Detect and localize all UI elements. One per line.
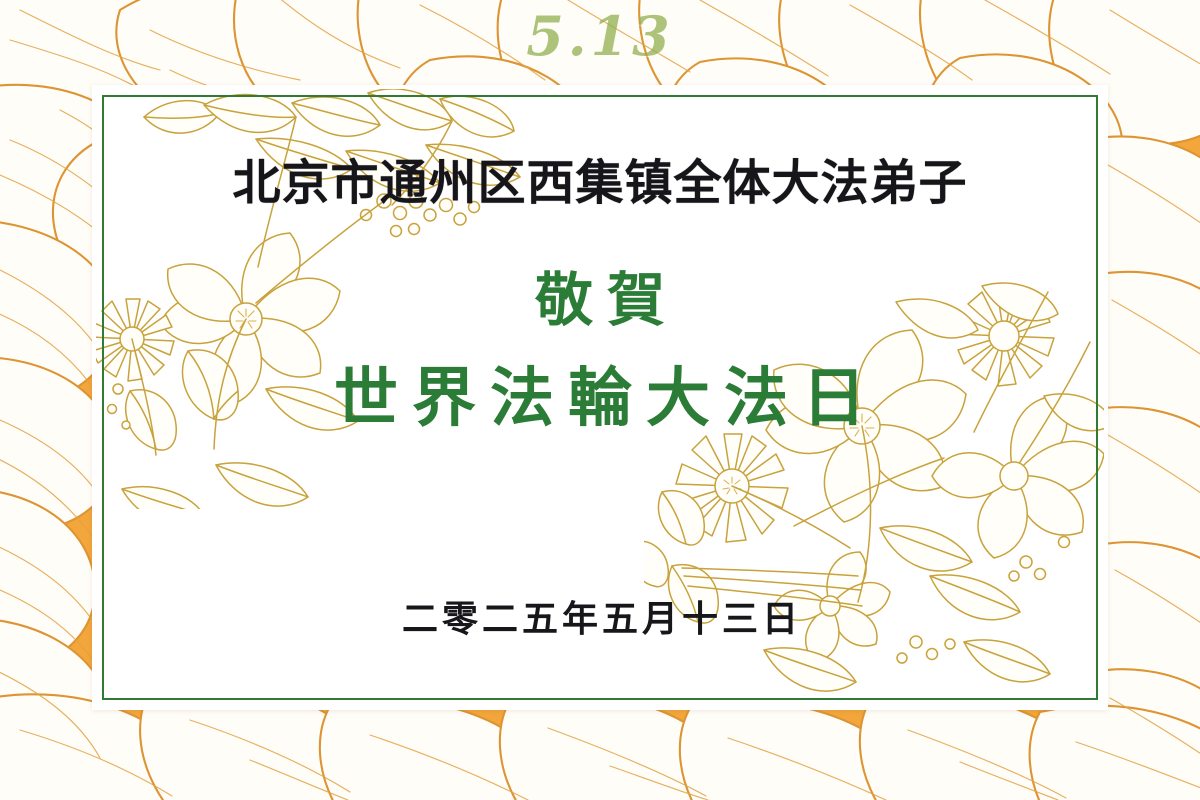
card-text-block: 北京市通州区西集镇全体大法弟子 敬賀 世界法輪大法日 二零二五年五月十三日 (92, 85, 1108, 710)
occasion-title: 世界法輪大法日 (92, 347, 1108, 439)
congregation-line: 北京市通州区西集镇全体大法弟子 (92, 143, 1108, 213)
salutation-line: 敬賀 (92, 253, 1108, 337)
white-card: 北京市通州区西集镇全体大法弟子 敬賀 世界法輪大法日 二零二五年五月十三日 (92, 85, 1108, 710)
greeting-card-canvas: 5.13 (0, 0, 1200, 800)
date-line: 二零二五年五月十三日 (92, 590, 1108, 642)
